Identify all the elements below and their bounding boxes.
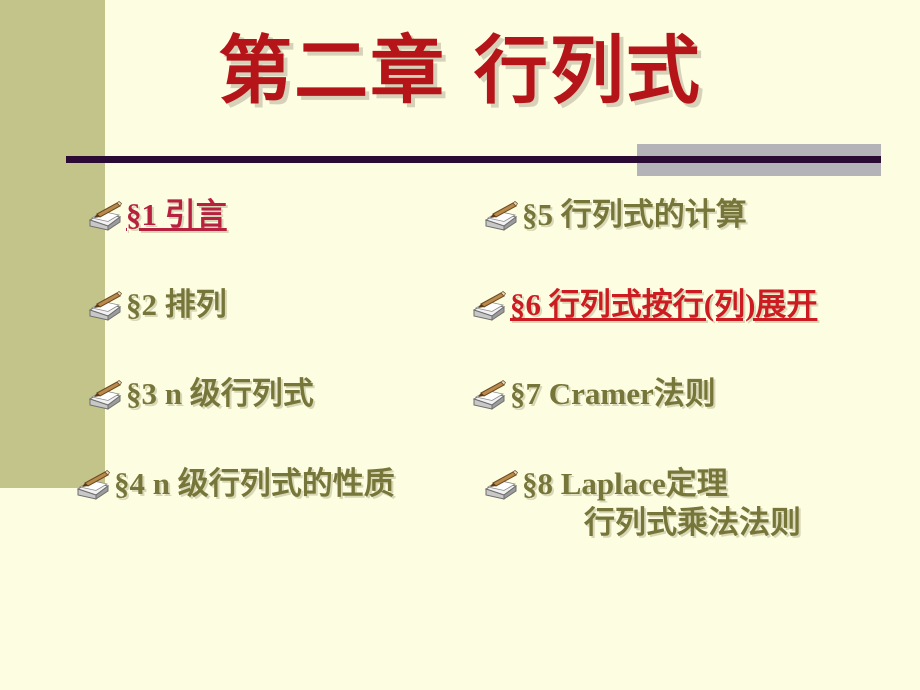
toc-item-sublabel: 行列式乘法法则	[522, 504, 801, 542]
pencil-on-paper-stack-icon	[470, 290, 508, 322]
toc-right-column: §5 行列式的计算 §6 行列式按行(列)展开	[470, 196, 920, 542]
toc-item-s8[interactable]: §8 Laplace定理行列式乘法法则	[482, 465, 920, 542]
toc-item-label[interactable]: §3 n 级行列式	[126, 375, 314, 413]
pencil-on-paper-stack-icon	[86, 379, 124, 411]
toc-item-s1[interactable]: §1 引言	[86, 196, 486, 234]
pencil-on-paper-stack-icon	[74, 469, 112, 501]
toc-item-label: §8 Laplace定理	[522, 466, 728, 501]
toc-item-s7[interactable]: §7 Cramer法则	[470, 375, 920, 413]
toc-item-s3[interactable]: §3 n 级行列式	[86, 375, 486, 413]
toc-item-s2[interactable]: §2 排列	[86, 286, 486, 324]
pencil-on-paper-stack-icon	[482, 469, 520, 501]
toc-left-column: §1 引言 §2 排列	[86, 196, 486, 504]
toc-item-label[interactable]: §5 行列式的计算	[522, 196, 747, 234]
pencil-on-paper-stack-icon	[86, 200, 124, 232]
pencil-on-paper-stack-icon	[470, 379, 508, 411]
page-title: 第二章 行列式	[0, 34, 920, 108]
toc-item-s6[interactable]: §6 行列式按行(列)展开	[470, 286, 920, 324]
title-divider-rule	[66, 156, 881, 163]
pencil-on-paper-stack-icon	[86, 290, 124, 322]
slide-canvas: 第二章 行列式 §1 引言	[0, 0, 920, 690]
toc-item-label[interactable]: §2 排列	[126, 286, 227, 324]
toc-item-label[interactable]: §1 引言	[126, 196, 227, 234]
toc-item-label[interactable]: §7 Cramer法则	[510, 375, 716, 413]
pencil-on-paper-stack-icon	[482, 200, 520, 232]
toc-item-label-group[interactable]: §8 Laplace定理行列式乘法法则	[522, 465, 801, 542]
toc-item-s5[interactable]: §5 行列式的计算	[482, 196, 920, 234]
toc-item-s4[interactable]: §4 n 级行列式的性质	[74, 465, 486, 503]
toc-item-label[interactable]: §4 n 级行列式的性质	[114, 465, 395, 503]
toc-item-label[interactable]: §6 行列式按行(列)展开	[510, 286, 817, 324]
